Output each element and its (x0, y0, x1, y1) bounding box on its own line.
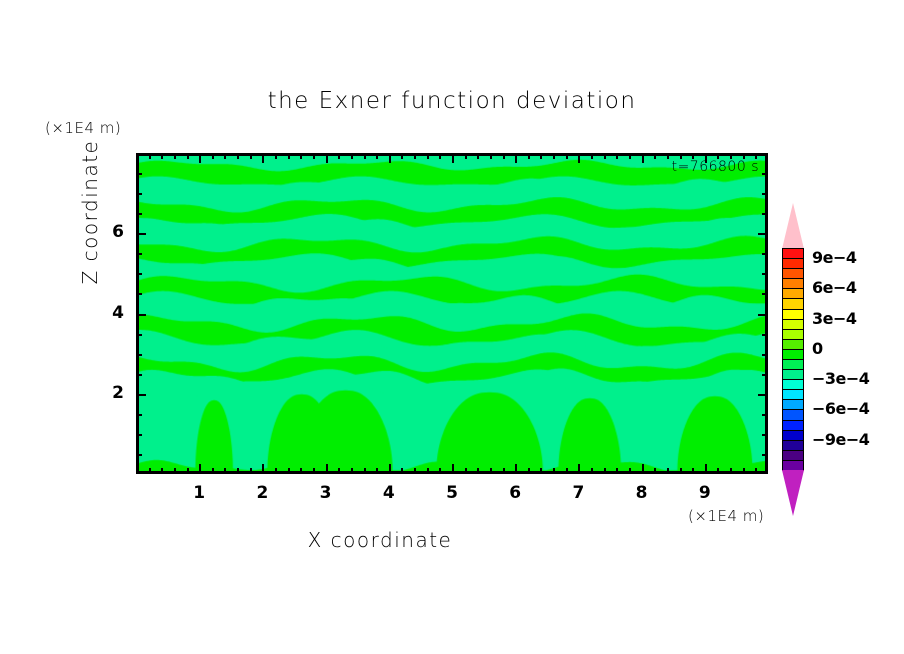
contour-plot-panel: t=766800 s (136, 153, 768, 474)
x-minor-tick-top (465, 153, 467, 159)
y-tick-label: 2 (94, 383, 124, 403)
x-minor-tick (351, 468, 353, 474)
x-minor-tick (667, 468, 669, 474)
y-minor-tick (136, 293, 142, 295)
x-minor-tick-top (187, 153, 189, 159)
x-minor-tick (439, 468, 441, 474)
x-minor-tick (275, 468, 277, 474)
x-major-tick (199, 464, 201, 474)
x-minor-tick (288, 468, 290, 474)
x-tick-label: 3 (311, 483, 341, 503)
y-major-tick (136, 394, 146, 396)
x-minor-tick-top (376, 153, 378, 159)
x-minor-tick (503, 468, 505, 474)
x-minor-tick (401, 468, 403, 474)
y-tick-label: 6 (94, 222, 124, 242)
x-major-tick-top (389, 153, 391, 163)
x-minor-tick (212, 468, 214, 474)
x-minor-tick (427, 468, 429, 474)
y-minor-tick-right (762, 173, 768, 175)
y-minor-tick-right (762, 334, 768, 336)
y-minor-tick-right (762, 414, 768, 416)
x-minor-tick-top (414, 153, 416, 159)
x-minor-tick (692, 468, 694, 474)
x-major-tick (642, 464, 644, 474)
x-minor-tick-top (629, 153, 631, 159)
x-minor-tick (174, 468, 176, 474)
x-major-tick (262, 464, 264, 474)
colorbar-tick-label: 3e−4 (812, 309, 857, 328)
x-minor-tick-top (174, 153, 176, 159)
x-major-tick-top (452, 153, 454, 163)
x-minor-tick (755, 468, 757, 474)
x-minor-tick-top (604, 153, 606, 159)
y-major-tick (136, 233, 146, 235)
x-minor-tick (566, 468, 568, 474)
page-title: the Exner function deviation (0, 88, 904, 114)
colorbar-tick-label: −6e−4 (812, 399, 869, 418)
x-minor-tick (250, 468, 252, 474)
x-minor-tick-top (364, 153, 366, 159)
x-tick-label: 6 (500, 483, 530, 503)
x-minor-tick-top (275, 153, 277, 159)
y-minor-tick (136, 434, 142, 436)
x-minor-tick-top (250, 153, 252, 159)
y-major-tick-right (758, 314, 768, 316)
y-minor-tick (136, 253, 142, 255)
x-minor-tick (553, 468, 555, 474)
x-minor-tick-top (667, 153, 669, 159)
x-tick-label: 8 (627, 483, 657, 503)
timestamp-annotation: t=766800 s (672, 159, 759, 175)
x-minor-tick-top (427, 153, 429, 159)
x-minor-tick-top (616, 153, 618, 159)
x-major-tick (389, 464, 391, 474)
colorbar-over-arrow (782, 203, 804, 249)
x-major-tick-top (262, 153, 264, 163)
x-minor-tick (680, 468, 682, 474)
x-minor-tick (654, 468, 656, 474)
y-minor-tick (136, 213, 142, 215)
x-major-tick-top (199, 153, 201, 163)
x-minor-tick (149, 468, 151, 474)
x-minor-tick (313, 468, 315, 474)
x-minor-tick (364, 468, 366, 474)
x-minor-tick (528, 468, 530, 474)
x-minor-tick (224, 468, 226, 474)
y-minor-tick-right (762, 213, 768, 215)
x-minor-tick-top (528, 153, 530, 159)
x-major-tick (705, 464, 707, 474)
y-minor-tick (136, 454, 142, 456)
y-minor-tick-right (762, 454, 768, 456)
x-minor-tick-top (338, 153, 340, 159)
y-major-tick-right (758, 233, 768, 235)
y-axis-label: Z coordinate (78, 92, 102, 332)
x-minor-tick-top (553, 153, 555, 159)
x-minor-tick (187, 468, 189, 474)
y-minor-tick (136, 354, 142, 356)
x-minor-tick-top (300, 153, 302, 159)
x-minor-tick-top (490, 153, 492, 159)
y-minor-tick-right (762, 434, 768, 436)
x-minor-tick (161, 468, 163, 474)
x-minor-tick-top (540, 153, 542, 159)
x-minor-tick (730, 468, 732, 474)
x-minor-tick-top (401, 153, 403, 159)
y-minor-tick-right (762, 273, 768, 275)
x-minor-tick (376, 468, 378, 474)
x-minor-tick-top (161, 153, 163, 159)
x-minor-tick-top (149, 153, 151, 159)
y-minor-tick (136, 414, 142, 416)
x-tick-label: 4 (374, 483, 404, 503)
colorbar-tick-label: 9e−4 (812, 248, 857, 267)
x-minor-tick (604, 468, 606, 474)
x-minor-tick (540, 468, 542, 474)
x-minor-tick-top (212, 153, 214, 159)
y-major-tick-right (758, 394, 768, 396)
y-minor-tick-right (762, 374, 768, 376)
x-minor-tick-top (351, 153, 353, 159)
x-minor-tick-top (477, 153, 479, 159)
colorbar-tick-label: −3e−4 (812, 369, 869, 388)
y-minor-tick-right (762, 354, 768, 356)
y-tick-label: 4 (94, 303, 124, 323)
x-major-tick (452, 464, 454, 474)
x-major-tick (515, 464, 517, 474)
x-minor-tick (300, 468, 302, 474)
x-minor-tick-top (237, 153, 239, 159)
x-minor-tick (743, 468, 745, 474)
x-tick-label: 1 (184, 483, 214, 503)
x-major-tick-top (515, 153, 517, 163)
colorbar-under-arrow (782, 470, 804, 516)
colorbar-tick-label: −9e−4 (812, 430, 869, 449)
x-minor-tick-top (654, 153, 656, 159)
x-minor-tick (629, 468, 631, 474)
x-minor-tick (414, 468, 416, 474)
x-minor-tick-top (503, 153, 505, 159)
x-minor-tick-top (439, 153, 441, 159)
colorbar-tick-label: 0 (812, 339, 823, 358)
x-major-tick-top (578, 153, 580, 163)
x-major-tick (326, 464, 328, 474)
y-minor-tick (136, 193, 142, 195)
y-minor-tick (136, 273, 142, 275)
x-minor-tick-top (288, 153, 290, 159)
x-minor-tick (477, 468, 479, 474)
x-minor-tick-top (313, 153, 315, 159)
x-minor-tick-top (566, 153, 568, 159)
x-tick-label: 7 (563, 483, 593, 503)
y-minor-tick-right (762, 293, 768, 295)
x-tick-label: 5 (437, 483, 467, 503)
x-tick-label: 2 (247, 483, 277, 503)
x-minor-tick (490, 468, 492, 474)
x-major-tick (578, 464, 580, 474)
x-major-tick-top (326, 153, 328, 163)
y-minor-tick (136, 334, 142, 336)
x-axis-units-label: (×1E4 m) (688, 507, 764, 525)
x-major-tick-top (642, 153, 644, 163)
x-axis-label: X coordinate (0, 528, 760, 552)
y-minor-tick (136, 374, 142, 376)
y-major-tick (136, 314, 146, 316)
contour-field (139, 156, 765, 471)
x-minor-tick (591, 468, 593, 474)
y-minor-tick-right (762, 193, 768, 195)
x-minor-tick (616, 468, 618, 474)
x-minor-tick (717, 468, 719, 474)
y-minor-tick-right (762, 253, 768, 255)
x-minor-tick (338, 468, 340, 474)
colorbar (782, 248, 804, 470)
x-minor-tick-top (224, 153, 226, 159)
x-minor-tick (237, 468, 239, 474)
x-minor-tick-top (591, 153, 593, 159)
colorbar-tick-label: 6e−4 (812, 278, 857, 297)
x-minor-tick (465, 468, 467, 474)
y-minor-tick (136, 173, 142, 175)
x-tick-label: 9 (690, 483, 720, 503)
